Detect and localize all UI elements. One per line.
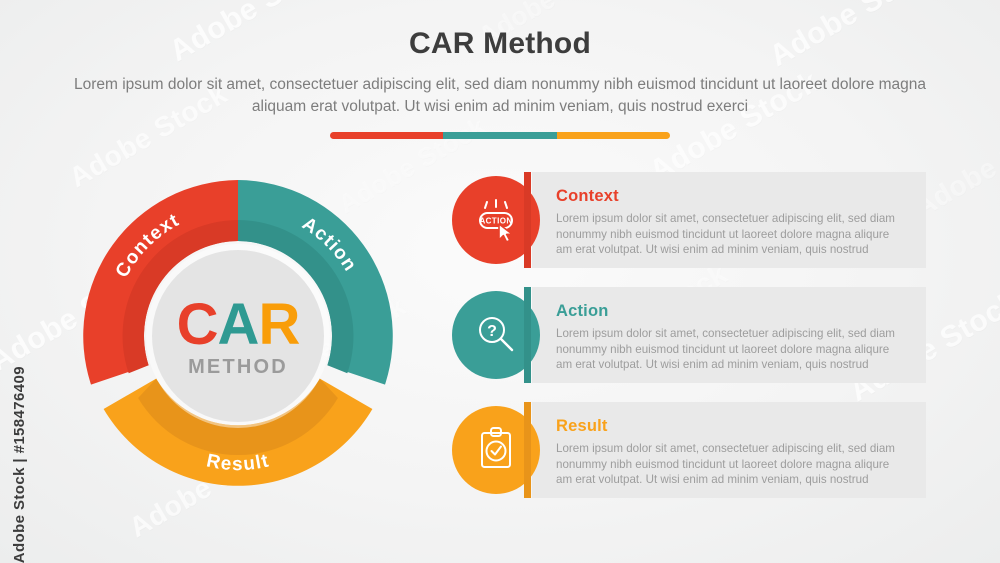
card-context-accent-bar <box>524 172 531 268</box>
clipboard-check-icon <box>473 425 519 475</box>
action-icon-label: ACTION <box>479 217 512 226</box>
card-context-text: Lorem ipsum dolor sit amet, consectetuer… <box>556 211 908 258</box>
page-subtitle: Lorem ipsum dolor sit amet, consectetuer… <box>60 74 940 118</box>
center-letter-r: R <box>258 292 299 357</box>
card-result-accent-bar <box>524 402 531 498</box>
card-result[interactable]: Result Lorem ipsum dolor sit amet, conse… <box>452 402 932 498</box>
card-action-accent-bar <box>524 287 531 383</box>
card-context[interactable]: ACTION Context Lorem ipsum dolor sit ame… <box>452 172 932 268</box>
divider-segment-0 <box>330 132 443 139</box>
card-result-body: Result Lorem ipsum dolor sit amet, conse… <box>556 417 916 488</box>
stock-credit: Adobe Stock | #158476409 <box>2 0 36 563</box>
infographic-canvas: Adobe StockAdobe StockAdobe StockAdobe S… <box>0 0 1000 563</box>
tricolor-divider <box>330 132 670 139</box>
center-letter-a: A <box>218 292 259 357</box>
card-result-title: Result <box>556 417 916 436</box>
card-action[interactable]: ? Action Lorem ipsum dolor sit amet, con… <box>452 287 932 383</box>
header: CAR Method Lorem ipsum dolor sit amet, c… <box>0 0 1000 139</box>
divider-segment-1 <box>443 132 556 139</box>
donut-center-hub: CAR METHOD <box>152 250 324 422</box>
card-action-title: Action <box>556 302 916 321</box>
divider-segment-2 <box>557 132 670 139</box>
card-action-text: Lorem ipsum dolor sit amet, consectetuer… <box>556 326 908 373</box>
stock-credit-text: Adobe Stock | #158476409 <box>11 352 28 563</box>
car-donut-chart: Context Action Result <box>68 166 408 506</box>
card-context-body: Context Lorem ipsum dolor sit amet, cons… <box>556 187 916 258</box>
question-mark-glyph: ? <box>487 323 497 340</box>
card-result-text: Lorem ipsum dolor sit amet, consectetuer… <box>556 441 908 488</box>
card-context-title: Context <box>556 187 916 206</box>
center-letter-c: C <box>177 292 218 357</box>
donut-center-word: CAR <box>177 298 300 352</box>
card-action-body: Action Lorem ipsum dolor sit amet, conse… <box>556 302 916 373</box>
magnifier-question-icon: ? <box>473 312 519 358</box>
page-title: CAR Method <box>0 27 1000 61</box>
card-list: ACTION Context Lorem ipsum dolor sit ame… <box>452 172 932 498</box>
donut-center-subtitle: METHOD <box>188 356 288 379</box>
action-click-icon: ACTION <box>470 194 522 246</box>
